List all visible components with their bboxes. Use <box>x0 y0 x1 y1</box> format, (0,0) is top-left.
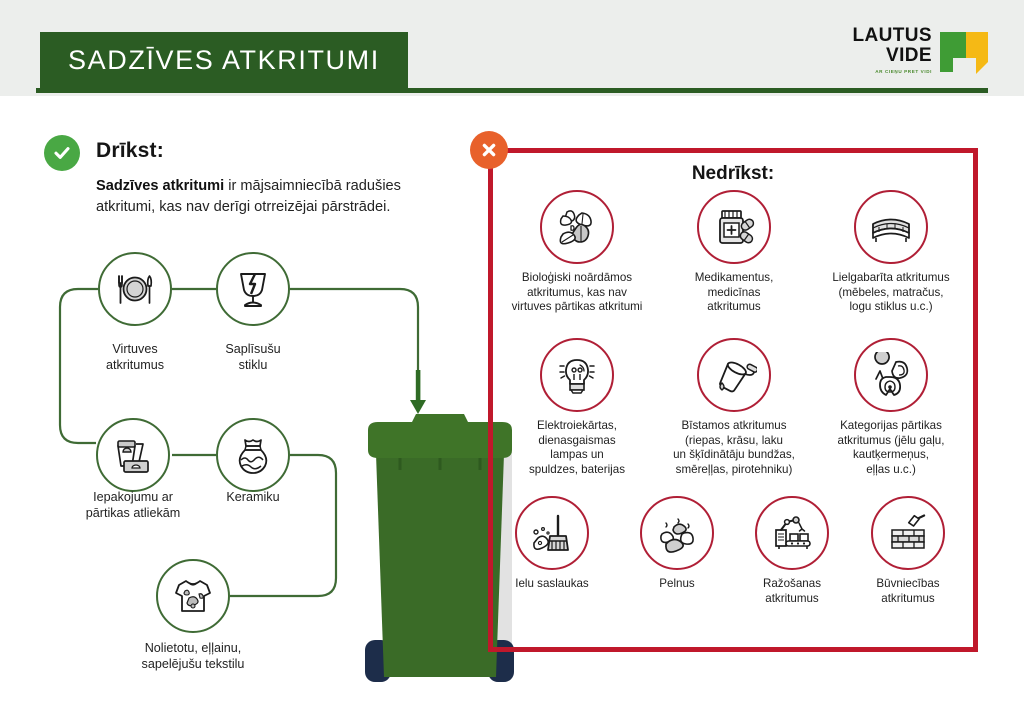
forbidden-item-label-5: Kategorijas pārtikasatkritumus (jēlu gaļ… <box>816 419 966 477</box>
ceramic-vase-icon <box>231 432 275 478</box>
forbidden-item-medikamentus[interactable]: Medikamentus,medicīnasatkritumus <box>659 190 809 315</box>
forbidden-item-label-9: Būvniecībasatkritumus <box>844 577 972 606</box>
forbidden-item-label-6: Ielu saslaukas <box>488 577 616 592</box>
broken-glass-icon <box>231 266 275 312</box>
ashes-icon <box>640 496 714 570</box>
forbidden-grid: Bioloģiski noārdāmosatkritumus, kas navv… <box>492 190 976 626</box>
logo-wordmark: LAUTUS VIDE AR CIEŅU PRET VIDI <box>832 26 932 74</box>
forbidden-row-3: Ielu saslaukas Pelnus <box>492 496 976 626</box>
allowed-item-keramiku[interactable] <box>216 418 290 492</box>
brick-wall-icon <box>871 496 945 570</box>
food-packaging-icon <box>109 432 157 478</box>
broom-icon <box>515 496 589 570</box>
forbidden-item-label-8: Ražošanasatkritumus <box>728 577 856 606</box>
plate-cutlery-icon <box>112 266 158 312</box>
forbidden-item-kategorijas[interactable]: Kategorijas pārtikasatkritumus (jēlu gaļ… <box>816 338 966 477</box>
logo-arrows-icon <box>936 28 992 80</box>
forbidden-item-lielgabarita[interactable]: Lielgabarīta atkritumus(mēbeles, matraču… <box>816 190 966 315</box>
forbidden-heading: Nedrīkst: <box>488 163 978 185</box>
allowed-item-virtuves-atkritumus[interactable] <box>98 252 172 326</box>
forbidden-item-biologiski[interactable]: Bioloģiski noārdāmosatkritumus, kas navv… <box>502 190 652 315</box>
brand-logo: LAUTUS VIDE AR CIEŅU PRET VIDI <box>832 26 992 84</box>
forbidden-row-1: Bioloģiski noārdāmosatkritumus, kas navv… <box>492 190 976 338</box>
logo-line-1: LAUTUS <box>832 26 932 46</box>
mattress-icon <box>854 190 928 264</box>
dirty-tshirt-icon <box>169 574 217 618</box>
forbidden-item-pelnus[interactable]: Pelnus <box>618 496 736 592</box>
raw-meat-icon <box>854 338 928 412</box>
forbidden-item-label-7: Pelnus <box>618 577 736 592</box>
forbidden-item-bistamos[interactable]: Bīstamos atkritumus(riepas, krāsu, lakuu… <box>659 338 809 477</box>
allowed-item-label-3: Keramiku <box>178 489 328 505</box>
allowed-item-iepakojumu[interactable] <box>96 418 170 492</box>
infographic-page: SADZĪVES ATKRITUMI LAUTUS VIDE AR CIEŅU … <box>0 0 1024 725</box>
pill-bottle-icon <box>697 190 771 264</box>
forbidden-item-label-3: Elektroiekārtas,dienasgaismaslampas unsp… <box>502 419 652 477</box>
forbidden-item-label-0: Bioloģiski noārdāmosatkritumus, kas navv… <box>502 271 652 315</box>
allowed-item-tekstilu[interactable] <box>156 559 230 633</box>
forbidden-item-ielu-saslaukas[interactable]: Ielu saslaukas <box>488 496 616 592</box>
forbidden-item-label-4: Bīstamos atkritumus(riepas, krāsu, lakuu… <box>659 419 809 477</box>
forbidden-item-elektroiekartas[interactable]: Elektroiekārtas,dienasgaismaslampas unsp… <box>502 338 652 477</box>
allowed-item-saplisusu-stiklu[interactable] <box>216 252 290 326</box>
allowed-item-label-4: Nolietotu, eļļainu,sapelējušu tekstilu <box>118 640 268 672</box>
allowed-item-label-1: Saplīsušustiklu <box>178 341 328 373</box>
factory-robot-icon <box>755 496 829 570</box>
logo-tagline: AR CIEŅU PRET VIDI <box>832 69 932 74</box>
forbidden-item-buvniecibas[interactable]: Būvniecībasatkritumus <box>844 496 972 606</box>
paint-can-icon <box>697 338 771 412</box>
forbidden-row-2: Elektroiekārtas,dienasgaismaslampas unsp… <box>492 338 976 496</box>
leaves-icon <box>540 190 614 264</box>
x-circle-icon <box>470 131 508 169</box>
forbidden-item-label-1: Medikamentus,medicīnasatkritumus <box>659 271 809 315</box>
forbidden-item-razosanas[interactable]: Ražošanasatkritumus <box>728 496 856 606</box>
logo-line-2: VIDE <box>832 46 932 66</box>
forbidden-item-label-2: Lielgabarīta atkritumus(mēbeles, matraču… <box>816 271 966 315</box>
light-bulb-icon <box>540 338 614 412</box>
